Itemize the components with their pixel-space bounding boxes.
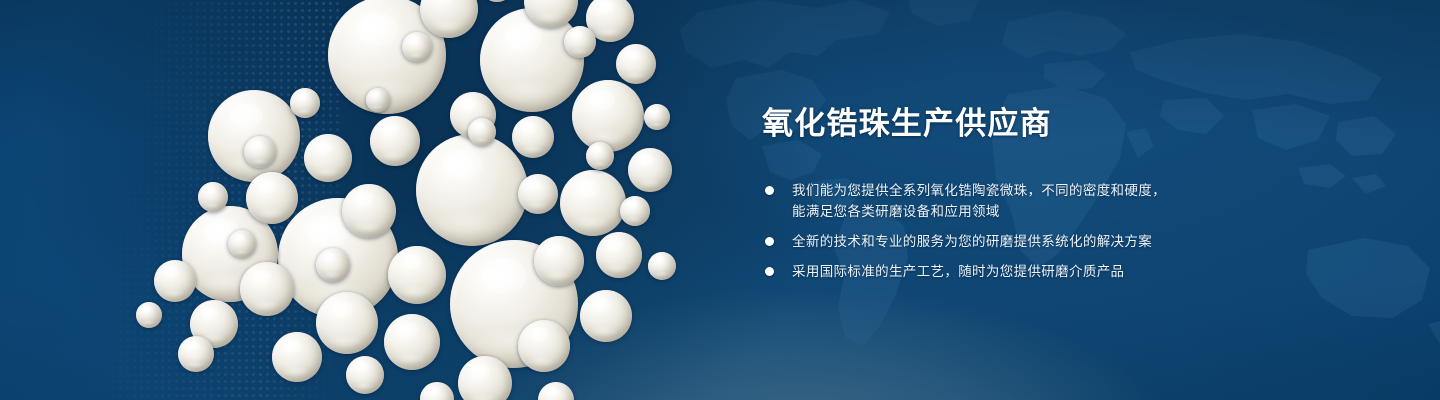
- banner-copy: 氧化锆珠生产供应商 我们能为您提供全系列氧化锆陶瓷微珠，不同的密度和硬度， 能满…: [762, 104, 1232, 282]
- bullet-dot-icon: [765, 237, 774, 246]
- hero-banner: 氧化锆珠生产供应商 我们能为您提供全系列氧化锆陶瓷微珠，不同的密度和硬度， 能满…: [0, 0, 1440, 400]
- bullet-dot-icon: [765, 267, 774, 276]
- list-item: 全新的技术和专业的服务为您的研磨提供系统化的解决方案: [762, 231, 1232, 252]
- feature-list: 我们能为您提供全系列氧化锆陶瓷微珠，不同的密度和硬度， 能满足您各类研磨设备和应…: [762, 180, 1232, 282]
- list-item: 我们能为您提供全系列氧化锆陶瓷微珠，不同的密度和硬度， 能满足您各类研磨设备和应…: [762, 180, 1232, 222]
- list-item: 采用国际标准的生产工艺，随时为您提供研磨介质产品: [762, 261, 1232, 282]
- list-item-line: 全新的技术和专业的服务为您的研磨提供系统化的解决方案: [792, 231, 1232, 252]
- page-title: 氧化锆珠生产供应商: [762, 104, 1232, 144]
- bullet-dot-icon: [765, 186, 774, 195]
- list-item-line: 能满足您各类研磨设备和应用领域: [792, 201, 1232, 222]
- list-item-line: 我们能为您提供全系列氧化锆陶瓷微珠，不同的密度和硬度，: [792, 180, 1232, 201]
- list-item-line: 采用国际标准的生产工艺，随时为您提供研磨介质产品: [792, 261, 1232, 282]
